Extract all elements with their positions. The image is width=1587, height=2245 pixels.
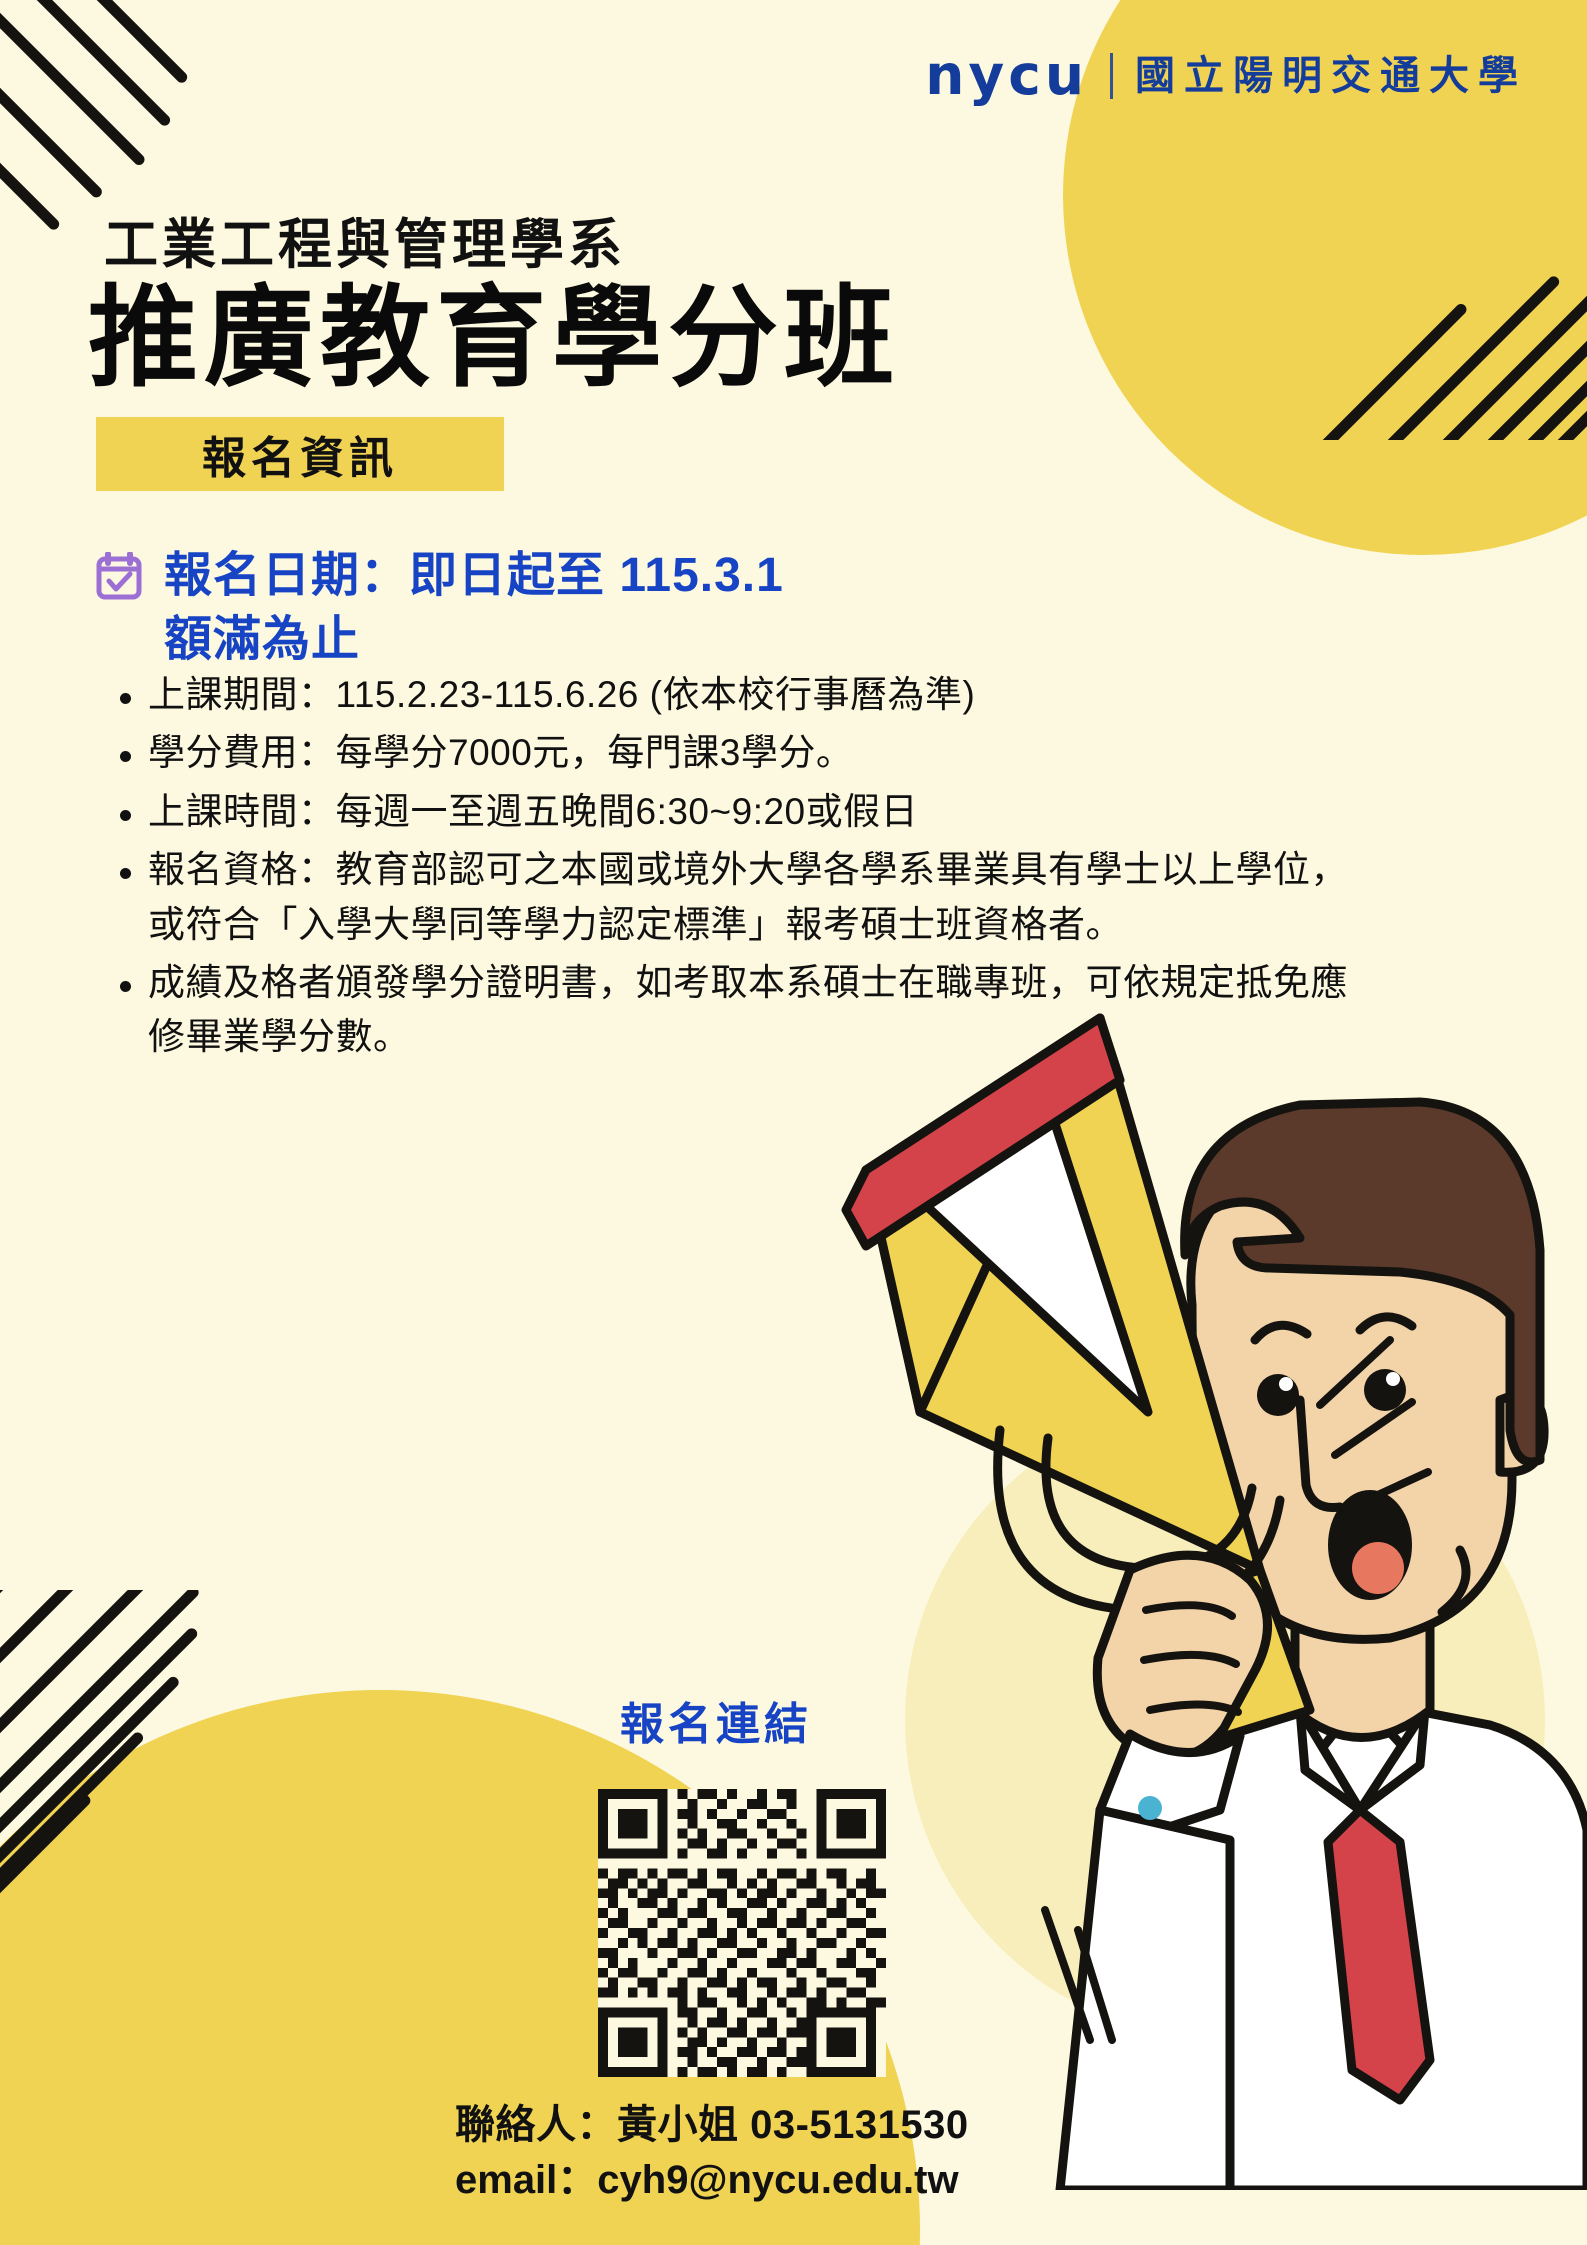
qr-section-label: 報名連結	[620, 1688, 812, 1752]
contact-person: 聯絡人：黃小姐 03-5131530	[455, 2098, 969, 2153]
university-name: 國立陽明交通大學	[1135, 56, 1527, 96]
contact-email[interactable]: email：cyh9@nycu.edu.tw	[455, 2153, 969, 2208]
bottom-left-stripes	[0, 1590, 240, 1920]
list-item-text: 報名資格：教育部認可之本國或境外大學各學系畢業具有學士以上學位，或符合「入學大學…	[148, 843, 1380, 952]
poster-root: nycu 國立陽明交通大學 工業工程與管理學系 推廣教育學分班 報名資訊 報名日…	[0, 0, 1587, 2245]
bullet-dot-icon	[120, 810, 131, 821]
registration-date-block: 報名日期：即日起至 115.3.1 額滿為止	[96, 545, 1096, 672]
contact-info: 聯絡人：黃小姐 03-5131530 email：cyh9@nycu.edu.t…	[455, 2098, 969, 2208]
top-left-stripes	[0, 0, 230, 230]
nycu-wordmark: nycu	[925, 48, 1088, 103]
registration-date-text: 報名日期：即日起至 115.3.1	[164, 545, 784, 607]
status-badge: 報名資訊	[96, 417, 504, 491]
list-item-text: 上課期間：115.2.23-115.6.26 (依本校行事曆為準)	[148, 668, 1380, 722]
status-badge-label: 報名資訊	[202, 422, 398, 486]
calendar-check-icon	[96, 552, 142, 600]
list-item-text: 上課時間：每週一至週五晚間6:30~9:20或假日	[148, 785, 1380, 839]
registration-until-full: 額滿為止	[164, 609, 1096, 671]
list-item: 學分費用：每學分7000元，每門課3學分。	[120, 726, 1380, 780]
top-right-stripes	[1300, 180, 1587, 440]
bullet-dot-icon	[120, 868, 131, 879]
list-item: 報名資格：教育部認可之本國或境外大學各學系畢業具有學士以上學位，或符合「入學大學…	[120, 843, 1380, 952]
department-name: 工業工程與管理學系	[104, 200, 626, 279]
page-title: 推廣教育學分班	[88, 278, 900, 399]
qr-code-icon[interactable]	[597, 1789, 887, 2077]
list-item-text: 學分費用：每學分7000元，每門課3學分。	[148, 726, 1380, 780]
bullet-dot-icon	[120, 693, 131, 704]
logo-divider	[1110, 53, 1113, 99]
nycu-logo: nycu 國立陽明交通大學	[925, 48, 1527, 103]
man-with-megaphone-illustration	[800, 1010, 1587, 2190]
bullet-dot-icon	[120, 751, 131, 762]
list-item: 上課期間：115.2.23-115.6.26 (依本校行事曆為準)	[120, 668, 1380, 722]
bullet-dot-icon	[120, 981, 131, 992]
list-item: 上課時間：每週一至週五晚間6:30~9:20或假日	[120, 785, 1380, 839]
info-list: 上課期間：115.2.23-115.6.26 (依本校行事曆為準) 學分費用：每…	[120, 668, 1380, 1069]
